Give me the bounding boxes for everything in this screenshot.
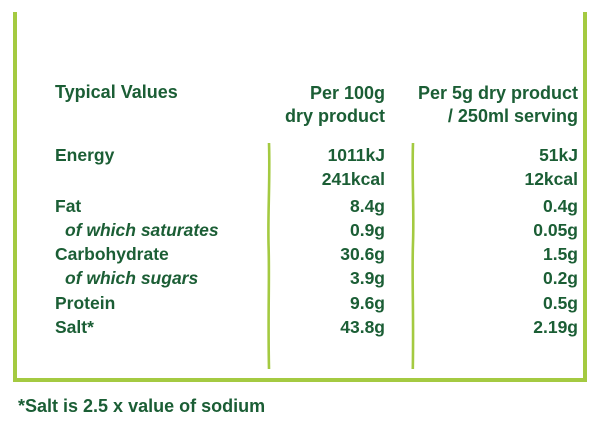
row-label: of which sugars xyxy=(65,266,198,290)
row-value-per-serving: 2.19g xyxy=(407,315,578,339)
row-value-per-serving: 0.4g xyxy=(407,194,578,218)
column-header-per-100g: Per 100g dry product xyxy=(177,82,385,128)
column-header-per-serving-line2: / 250ml serving xyxy=(393,105,578,128)
table-row: Energy1011kJ51kJ xyxy=(17,143,583,167)
row-label: Energy xyxy=(55,143,114,167)
footnote-salt-note: *Salt is 2.5 x value of sodium xyxy=(18,396,265,417)
row-label: Salt* xyxy=(55,315,94,339)
row-value-per-serving: 51kJ xyxy=(407,143,578,167)
table-row: Fat8.4g0.4g xyxy=(17,194,583,218)
row-value-per-100g: 8.4g xyxy=(197,194,385,218)
row-value-per-serving: 12kcal xyxy=(407,167,578,191)
column-header-typical-values: Typical Values xyxy=(55,82,178,103)
table-row: 241kcal12kcal xyxy=(17,167,583,191)
column-header-per-serving: Per 5g dry product / 250ml serving xyxy=(393,82,578,128)
row-value-per-100g: 1011kJ xyxy=(197,143,385,167)
column-header-per-100g-line2: dry product xyxy=(177,105,385,128)
row-value-per-100g: 0.9g xyxy=(197,218,385,242)
row-value-per-100g: 3.9g xyxy=(197,266,385,290)
table-row: Salt*43.8g2.19g xyxy=(17,315,583,339)
row-value-per-100g: 43.8g xyxy=(197,315,385,339)
row-value-per-serving: 0.5g xyxy=(407,291,578,315)
row-label: of which saturates xyxy=(65,218,219,242)
row-value-per-100g: 241kcal xyxy=(197,167,385,191)
column-header-per-100g-line1: Per 100g xyxy=(177,82,385,105)
row-label: Protein xyxy=(55,291,115,315)
table-row: Protein9.6g0.5g xyxy=(17,291,583,315)
row-label: Carbohydrate xyxy=(55,242,169,266)
row-value-per-100g: 9.6g xyxy=(197,291,385,315)
table-row: of which saturates0.9g0.05g xyxy=(17,218,583,242)
row-value-per-serving: 1.5g xyxy=(407,242,578,266)
row-value-per-serving: 0.2g xyxy=(407,266,578,290)
row-value-per-100g: 30.6g xyxy=(197,242,385,266)
table-row: of which sugars3.9g0.2g xyxy=(17,266,583,290)
table-row: Carbohydrate30.6g1.5g xyxy=(17,242,583,266)
row-label: Fat xyxy=(55,194,81,218)
nutrition-table: Typical Values Per 100g dry product Per … xyxy=(17,70,583,378)
column-header-per-serving-line1: Per 5g dry product xyxy=(393,82,578,105)
row-value-per-serving: 0.05g xyxy=(407,218,578,242)
